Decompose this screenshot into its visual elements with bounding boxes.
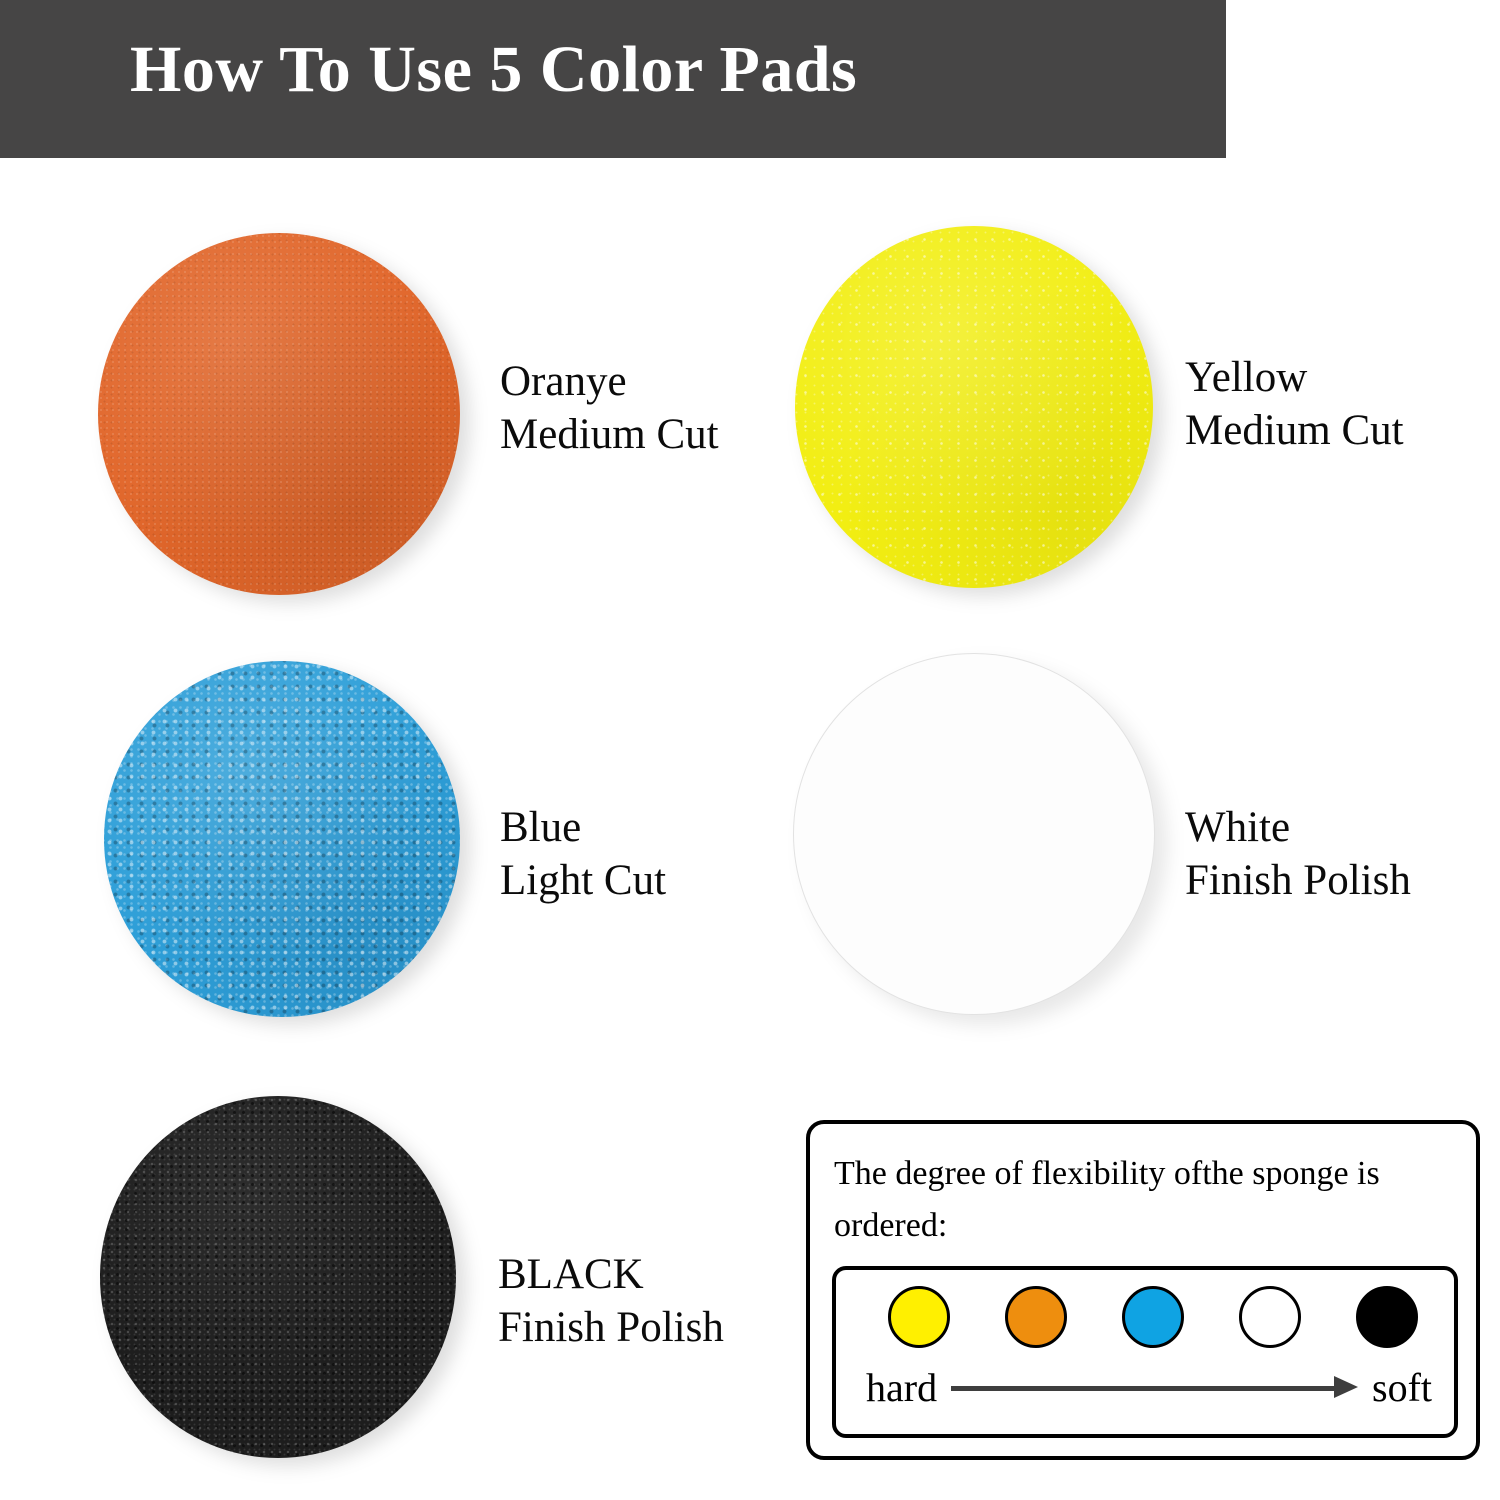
pad-texture-overlay [104,661,460,1017]
legend-dot-row [888,1284,1418,1350]
pad-color-name: Oranye [500,355,719,408]
pad-use-name: Medium Cut [1185,404,1404,457]
pad-texture-overlay [100,1096,456,1458]
legend-dot-orange [1005,1286,1067,1348]
pad-item-yellow: Yellow Medium Cut [795,226,1495,596]
pad-use-name: Light Cut [500,854,666,907]
polishing-pad-orange [98,233,460,595]
pad-item-orange: Oranye Medium Cut [98,233,798,598]
arrow-right-icon [951,1385,1358,1391]
flexibility-legend-box: The degree of flexibility ofthe sponge i… [806,1120,1480,1460]
pad-texture-overlay [795,226,1153,588]
legend-scale-panel: hard soft [832,1266,1458,1438]
pad-texture-overlay [794,654,1154,1014]
scale-label-soft: soft [1372,1368,1432,1408]
pad-color-name: Blue [500,801,666,854]
pad-color-name: BLACK [498,1248,724,1301]
pad-item-black: BLACK Finish Polish [100,1096,800,1466]
pad-label-yellow: Yellow Medium Cut [1185,351,1404,457]
pad-label-blue: Blue Light Cut [500,801,666,907]
pad-use-name: Finish Polish [1185,854,1411,907]
scale-label-hard: hard [866,1368,937,1408]
pad-item-blue: Blue Light Cut [104,661,804,1027]
pad-label-orange: Oranye Medium Cut [500,355,719,461]
pad-color-name: White [1185,801,1411,854]
page-title: How To Use 5 Color Pads [130,32,857,108]
pad-texture-overlay [98,233,460,595]
legend-caption: The degree of flexibility ofthe sponge i… [834,1148,1454,1252]
polishing-pad-black [100,1096,456,1458]
pad-label-white: White Finish Polish [1185,801,1411,907]
legend-dot-blue [1122,1286,1184,1348]
legend-dot-yellow [888,1286,950,1348]
pad-use-name: Finish Polish [498,1301,724,1354]
legend-dot-black [1356,1286,1418,1348]
legend-hardness-scale: hard soft [866,1358,1432,1418]
polishing-pad-blue [104,661,460,1017]
pad-color-name: Yellow [1185,351,1404,404]
polishing-pad-yellow [795,226,1153,588]
pad-item-white: White Finish Polish [793,653,1493,1033]
title-banner: How To Use 5 Color Pads [0,0,1226,158]
polishing-pad-white [793,653,1155,1015]
pad-use-name: Medium Cut [500,408,719,461]
legend-dot-white [1239,1286,1301,1348]
pad-label-black: BLACK Finish Polish [498,1248,724,1354]
